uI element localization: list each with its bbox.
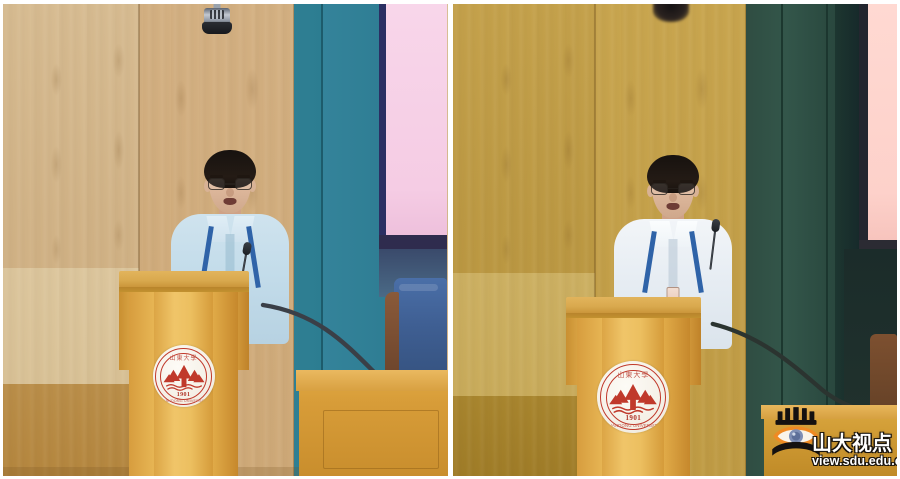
eyeglasses-icon — [651, 183, 695, 196]
lectern-top-surface — [119, 271, 249, 288]
image-pair-container: 山東大學 1901 SHANDONG UNIVERSITY — [0, 0, 900, 479]
eyeglasses-icon — [208, 178, 252, 191]
emblem-chinese-name: 山東大學 — [153, 353, 215, 362]
emblem-chinese-name: 山東大學 — [597, 370, 669, 380]
mouth — [223, 198, 236, 205]
watermark-text-block: 山大视点 view.sdu.edu.cn — [812, 433, 892, 468]
glasses-lens-right — [235, 178, 252, 190]
watermark-url: view.sdu.edu.cn — [812, 454, 892, 468]
projection-screen — [386, 4, 447, 235]
right-speaker-photo: 山東大學 1901 SHANDONG UNIVERSITY — [453, 4, 898, 476]
projection-screen — [868, 4, 897, 240]
emblem-latin-name: SHANDONG UNIVERSITY — [600, 423, 666, 428]
watermark-chinese-title: 山大视点 — [812, 433, 892, 453]
lectern: 山東大學 1901 SHANDONG UNIVERSITY — [566, 297, 701, 476]
lectern-top-edge — [119, 287, 249, 292]
projection-screen-shadow — [379, 235, 448, 249]
ceiling-projector-icon — [653, 4, 689, 22]
mouth — [666, 203, 679, 210]
glasses-lens-left — [208, 178, 225, 190]
lectern-top-edge — [566, 313, 701, 318]
left-speaker-photo: 山東大學 1901 SHANDONG UNIVERSITY — [3, 4, 448, 476]
shandong-university-emblem: 山東大學 1901 SHANDONG UNIVERSITY — [597, 361, 669, 433]
emblem-year: 1901 — [153, 392, 215, 398]
audio-cable — [701, 320, 897, 414]
glasses-lens-right — [678, 183, 695, 195]
emblem-year: 1901 — [597, 414, 669, 422]
shandong-university-emblem: 山東大學 1901 SHANDONG UNIVERSITY — [153, 345, 215, 407]
lectern-top-surface — [566, 297, 701, 314]
lectern: 山東大學 1901 SHANDONG UNIVERSITY — [119, 271, 249, 476]
side-desk-top — [296, 370, 447, 391]
glasses-bridge — [225, 183, 235, 184]
glasses-bridge — [668, 188, 678, 189]
ceiling-projector-icon — [196, 4, 238, 37]
ceiling-device-lens — [202, 22, 232, 34]
microphone-head — [711, 218, 721, 232]
chair-highlight — [399, 284, 438, 291]
ceiling-device-grille — [210, 10, 224, 19]
emblem-latin-name: SHANDONG UNIVERSITY — [155, 398, 212, 403]
microphone-head — [242, 242, 252, 256]
sdu-view-watermark: 山大视点 view.sdu.edu.cn — [766, 404, 891, 470]
side-desk-front-panel — [323, 410, 439, 469]
glasses-lens-left — [651, 183, 668, 195]
